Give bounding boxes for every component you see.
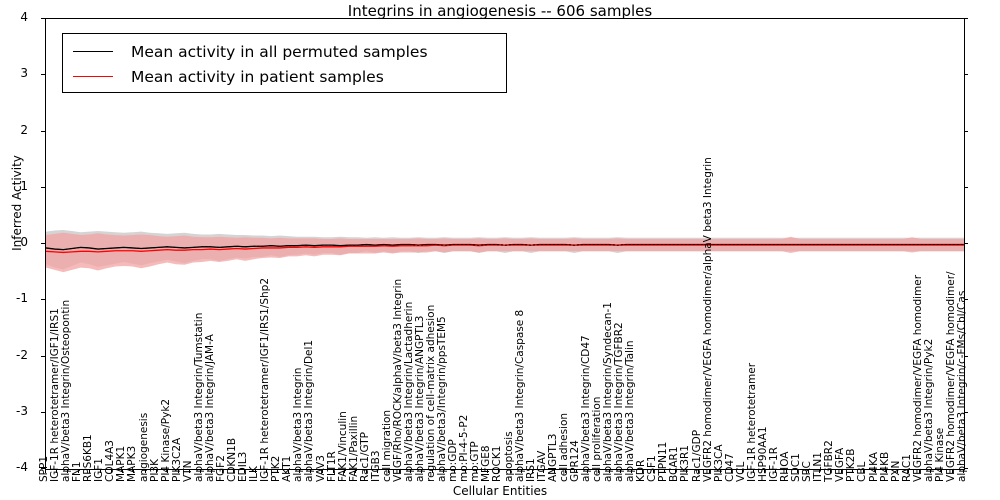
x-tick-label: PIK3C2A: [172, 438, 182, 482]
x-axis-label: Cellular Entities: [0, 484, 1000, 498]
x-tick-label: VAV3: [316, 455, 326, 482]
x-tick-mark: [200, 469, 201, 473]
x-tick-mark: [377, 469, 378, 473]
legend: Mean activity in all permuted samples Me…: [62, 33, 507, 93]
x-tick-mark: [454, 469, 455, 473]
x-tick-label: GPR124: [570, 440, 580, 482]
x-tick-mark: [642, 469, 643, 473]
x-tick-mark: [510, 469, 511, 473]
x-tick-mark: [786, 469, 787, 473]
x-tick-mark: [819, 469, 820, 473]
x-tick-mark: [543, 469, 544, 473]
x-tick-label: FGF2: [216, 455, 226, 482]
x-tick-label: alphaV/beta3 Integrin/Talin: [625, 340, 635, 482]
x-tick-label: SDC1: [791, 453, 801, 482]
x-tick-label: PI4 Kinase: [935, 428, 945, 482]
chart-figure: Integrins in angiogenesis -- 606 samples…: [0, 0, 1000, 500]
x-tick-label: CSF1: [647, 455, 657, 482]
x-tick-label: FLT1R: [327, 451, 337, 482]
legend-swatch-permuted: [73, 51, 113, 52]
x-tick-label: ITGAV: [537, 451, 547, 482]
x-tick-label: alphaV/beta3 Integrin/ANGPTL3: [415, 316, 425, 482]
x-tick-mark: [698, 469, 699, 473]
x-tick-label: cell migration: [382, 410, 392, 482]
x-tick-label: IGF1: [94, 458, 104, 482]
x-tick-label: CBL: [857, 462, 867, 482]
x-tick-label: ROCK1: [492, 446, 502, 482]
x-tick-label: alphaV/beta3 Integrin/c-FMs/Cbl/Cas: [957, 291, 967, 482]
x-tick-mark: [189, 469, 190, 473]
x-tick-label: VEGFR2 homodimer/VEGFA homodimer: [913, 275, 923, 482]
x-tick-mark: [587, 469, 588, 473]
x-tick-label: Rac1/GTP: [360, 432, 370, 482]
x-tick-label: MAPK1: [116, 446, 126, 482]
x-tick-label: PTK2B: [846, 448, 856, 482]
x-tick-label: FAK1/Vinculin: [338, 411, 348, 482]
x-tick-mark: [620, 469, 621, 473]
x-tick-label: alphaV/beta3 Integrin: [293, 368, 303, 482]
x-tick-label: IRS1: [526, 458, 536, 482]
x-tick-mark: [233, 469, 234, 473]
x-tick-mark: [753, 469, 754, 473]
legend-item[interactable]: Mean activity in patient samples: [63, 64, 506, 89]
y-tick-label: -2: [0, 348, 28, 362]
x-tick-mark: [875, 469, 876, 473]
x-tick-mark: [288, 469, 289, 473]
x-tick-label: alphaV/beta3 Integrin/Pyk2: [924, 339, 934, 482]
x-tick-mark: [852, 469, 853, 473]
x-tick-label: alphaV/beta3 Integrin/Osteopontin: [61, 300, 71, 482]
x-tick-mark: [709, 469, 710, 473]
x-tick-mark: [764, 469, 765, 473]
x-tick-mark: [399, 469, 400, 473]
x-tick-mark: [67, 469, 68, 473]
x-tick-label: ILK: [249, 466, 259, 482]
x-tick-label: ITLN1: [813, 452, 823, 482]
x-tick-mark: [830, 469, 831, 473]
x-tick-label: Rac1/GDP: [692, 430, 702, 482]
x-tick-label: AKT1: [282, 456, 292, 482]
x-tick-label: FAK1/Paxillin: [349, 416, 359, 482]
x-tick-label: MAPK3: [127, 446, 137, 482]
x-tick-mark: [554, 469, 555, 473]
x-tick-mark: [178, 469, 179, 473]
x-tick-mark: [598, 469, 599, 473]
x-tick-mark: [565, 469, 566, 473]
x-tick-mark: [122, 469, 123, 473]
x-tick-mark: [111, 469, 112, 473]
x-tick-mark: [244, 469, 245, 473]
x-tick-mark: [89, 469, 90, 473]
x-tick-mark: [952, 469, 953, 473]
x-tick-mark: [720, 469, 721, 473]
x-tick-mark: [476, 469, 477, 473]
y-tick-label: 2: [0, 123, 28, 137]
y-tick-label: 4: [0, 10, 28, 24]
x-tick-label: PI4 Kinase/Pyk2: [161, 399, 171, 482]
x-tick-mark: [653, 469, 654, 473]
x-tick-label: alphaV/beta3 Integrin/TGFBR2: [614, 322, 624, 482]
x-tick-label: EDIL3: [238, 452, 248, 482]
x-tick-mark: [686, 469, 687, 473]
x-tick-label: RHOA: [780, 452, 790, 482]
x-tick-mark: [432, 469, 433, 473]
x-tick-label: PTPN11: [658, 442, 668, 482]
x-tick-label: KDR: [636, 460, 646, 482]
x-tick-label: RAC1: [902, 454, 912, 482]
legend-swatch-patient: [73, 76, 113, 77]
y-tick-label: -1: [0, 291, 28, 305]
x-tick-mark: [410, 469, 411, 473]
x-tick-label: PXN: [891, 461, 901, 482]
x-tick-mark: [211, 469, 212, 473]
x-tick-label: alphaV/beta3 Integrin/Syndecan-1: [603, 302, 613, 482]
x-tick-mark: [808, 469, 809, 473]
x-tick-mark: [742, 469, 743, 473]
legend-label-patient: Mean activity in patient samples: [131, 68, 384, 86]
y-tick-label: 0: [0, 235, 28, 249]
x-tick-label: VTN: [183, 461, 193, 482]
x-tick-label: IGF-1R heterotetramer: [747, 363, 757, 482]
x-tick-mark: [322, 469, 323, 473]
x-tick-mark: [963, 469, 964, 473]
x-tick-mark: [344, 469, 345, 473]
x-tick-label: IGF-1R heterotetramer/IGF1/IRS1: [50, 308, 60, 482]
x-tick-label: alphaV/beta3 Integrin/Lactadherin: [404, 302, 414, 482]
y-tick-label: -3: [0, 404, 28, 418]
x-tick-label: angiogenesis: [139, 413, 149, 482]
x-tick-mark: [167, 469, 168, 473]
x-tick-mark: [609, 469, 610, 473]
x-tick-label: PTK2: [271, 456, 281, 482]
x-tick-label: TGFBR2: [824, 440, 834, 482]
x-tick-label: RPS6KB1: [83, 434, 93, 482]
x-tick-mark: [675, 469, 676, 473]
x-tick-mark: [919, 469, 920, 473]
x-tick-label: PI4KB: [880, 452, 890, 482]
x-tick-mark: [421, 469, 422, 473]
x-tick-mark: [255, 469, 256, 473]
x-tick-mark: [886, 469, 887, 473]
x-tick-label: CD47: [725, 453, 735, 482]
x-tick-label: ITGB3: [371, 450, 381, 482]
x-tick-label: PI3K: [150, 459, 160, 482]
x-tick-mark: [941, 469, 942, 473]
x-tick-mark: [443, 469, 444, 473]
x-tick-label: PIK3CA: [714, 444, 724, 482]
x-tick-label: FN1: [72, 461, 82, 482]
x-tick-mark: [366, 469, 367, 473]
x-tick-mark: [78, 469, 79, 473]
x-tick-label: alphaV/beta3 Integrin/Caspase 8: [515, 310, 525, 482]
x-tick-label: PIK3R1: [680, 445, 690, 482]
x-tick-label: cell proliferation: [592, 397, 602, 482]
x-tick-mark: [797, 469, 798, 473]
x-tick-label: VEGFR2 homodimer/VEGFA homodimer/alphaV …: [703, 157, 713, 482]
y-tick-label: 1: [0, 179, 28, 193]
x-tick-label: VCL: [736, 462, 746, 482]
x-tick-mark: [310, 469, 311, 473]
x-tick-mark: [333, 469, 334, 473]
x-tick-label: apoptosis: [504, 431, 514, 482]
x-tick-mark: [156, 469, 157, 473]
x-tick-mark: [266, 469, 267, 473]
x-tick-mark: [222, 469, 223, 473]
x-tick-mark: [532, 469, 533, 473]
legend-item[interactable]: Mean activity in all permuted samples: [63, 39, 506, 64]
x-tick-label: IGF-1R heterotetramer/IGF1/IRS1/Shp2: [260, 278, 270, 482]
x-tick-mark: [930, 469, 931, 473]
x-tick-mark: [521, 469, 522, 473]
x-tick-mark: [731, 469, 732, 473]
x-tick-label: alphaV/beta3/Integrin/ppsTEM5: [437, 316, 447, 482]
x-tick-label: IGF-1R: [769, 447, 779, 482]
x-tick-mark: [299, 469, 300, 473]
x-tick-mark: [775, 469, 776, 473]
x-tick-mark: [388, 469, 389, 473]
x-tick-label: mo:GTP: [470, 441, 480, 482]
x-tick-label: SPP1: [39, 456, 49, 482]
x-tick-mark: [841, 469, 842, 473]
x-tick-label: mo:GDP: [448, 439, 458, 482]
x-tick-label: BCAR1: [669, 446, 679, 482]
x-tick-label: COL4A3: [105, 440, 115, 482]
x-tick-mark: [487, 469, 488, 473]
x-tick-label: regulation of cell-matrix adhesion: [426, 305, 436, 482]
x-tick-label: mo:PI-4-5-P2: [459, 415, 469, 482]
x-tick-mark: [498, 469, 499, 473]
x-tick-mark: [664, 469, 665, 473]
x-tick-label: VEGF/Rho/ROCK/alphaV/beta3 Integrin: [393, 279, 403, 482]
y-tick-label: 3: [0, 66, 28, 80]
x-tick-label: ANGPTL3: [548, 434, 558, 482]
x-tick-mark: [45, 469, 46, 473]
x-tick-label: alphaV/beta3 Integrin/Tumstatin: [194, 313, 204, 482]
x-tick-mark: [355, 469, 356, 473]
x-tick-label: MFGE8: [481, 445, 491, 482]
x-tick-mark: [908, 469, 909, 473]
x-tick-label: VEGFR2 homodimer/VEGFA homodimer/: [946, 271, 956, 482]
y-axis-label: Inferred Activity: [10, 123, 24, 283]
x-tick-label: PI4KA: [869, 452, 879, 482]
x-tick-label: alphaV/beta3 Integrin/CD47: [581, 335, 591, 482]
x-tick-label: cell adhesion: [559, 413, 569, 482]
legend-label-permuted: Mean activity in all permuted samples: [131, 43, 428, 61]
x-tick-label: SRC: [802, 461, 812, 482]
x-tick-mark: [465, 469, 466, 473]
x-tick-label: alphaV/beta3 Integrin/JAM-A: [205, 334, 215, 482]
x-tick-mark: [56, 469, 57, 473]
x-tick-mark: [277, 469, 278, 473]
x-tick-label: CDKN1B: [227, 438, 237, 482]
x-tick-label: alphaV/beta3 Integrin/Del1: [304, 340, 314, 482]
x-tick-mark: [576, 469, 577, 473]
x-tick-label: HSP90AA1: [758, 426, 768, 482]
x-tick-mark: [100, 469, 101, 473]
x-tick-mark: [133, 469, 134, 473]
x-tick-mark: [631, 469, 632, 473]
x-tick-label: VEGFA: [835, 448, 845, 482]
x-tick-mark: [863, 469, 864, 473]
x-tick-mark: [145, 469, 146, 473]
x-tick-mark: [897, 469, 898, 473]
y-tick-label: -4: [0, 460, 28, 474]
